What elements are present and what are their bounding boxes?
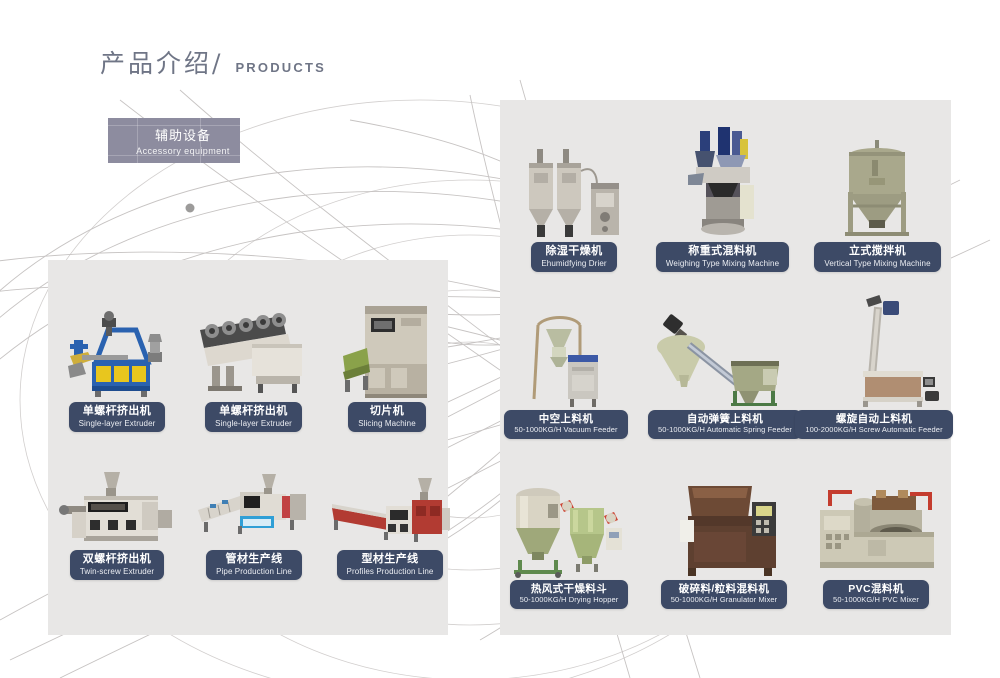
badge-en: 50-1000KG/H Drying Hopper xyxy=(520,596,619,605)
badge-cn: 单螺杆挤出机 xyxy=(79,405,156,418)
badge-cn: 称重式混料机 xyxy=(666,245,779,258)
badge-en: Ehumidfying Drier xyxy=(541,259,606,268)
badge-en: Single-layer Extruder xyxy=(79,419,156,428)
badge-en: 50-1000KG/H Granulator Mixer xyxy=(671,596,778,605)
badge-cn: 管材生产线 xyxy=(216,553,292,566)
badge-cn: 螺旋自动上料机 xyxy=(805,413,942,425)
page-title: 产品介绍/ PRODUCTS xyxy=(100,44,326,80)
roller-conveyor-machine-icon xyxy=(196,300,311,400)
badge-cn: 单螺杆挤出机 xyxy=(215,405,292,418)
badge-en: Weighing Type Mixing Machine xyxy=(666,259,779,268)
product-badge[interactable]: 型材生产线 Profiles Production Line xyxy=(337,550,444,580)
accessory-label-en: Accessory equipment xyxy=(136,146,230,156)
product-item-vacuum-feeder[interactable]: 中空上料机 50-1000KG/H Vacuum Feeder xyxy=(502,303,630,439)
extruder-blue-yellow-machine-icon xyxy=(62,300,172,400)
product-item-pipe-production-line[interactable]: 管材生产线 Pipe Production Line xyxy=(196,462,312,580)
badge-en: Pipe Production Line xyxy=(216,567,292,576)
badge-en: Single-layer Extruder xyxy=(215,419,292,428)
drying-hopper-icon xyxy=(508,470,630,578)
product-badge[interactable]: 破碎料/粒料混料机 50-1000KG/H Granulator Mixer xyxy=(661,580,788,609)
weighing-mixing-machine-icon xyxy=(662,123,783,240)
accessory-equipment-caption: 辅助设备 Accessory equipment xyxy=(108,118,240,163)
badge-en: Profiles Production Line xyxy=(347,567,434,576)
granulator-mixer-icon xyxy=(660,480,788,578)
twin-screw-extruder-machine-icon xyxy=(58,462,176,548)
product-item-slicing-machine[interactable]: 切片机 Slicing Machine xyxy=(337,298,437,432)
badge-cn: 热风式干燥料斗 xyxy=(520,583,619,595)
page-title-cn: 产品介绍/ xyxy=(100,44,223,80)
product-catalog-page: 产品介绍/ PRODUCTS 辅助设备 Accessory equipment xyxy=(0,0,1000,678)
accessory-label-cn: 辅助设备 xyxy=(155,125,211,144)
product-badge[interactable]: 立式搅拌机 Vertical Type Mixing Machine xyxy=(814,242,940,272)
decor-node-dot xyxy=(186,204,195,213)
automatic-spring-feeder-icon xyxy=(655,303,795,408)
pipe-production-line-icon xyxy=(196,462,312,548)
badge-cn: 破碎料/粒料混料机 xyxy=(671,583,778,595)
product-badge[interactable]: PVC混料机 50-1000KG/H PVC Mixer xyxy=(823,580,929,609)
badge-cn: PVC混料机 xyxy=(833,583,919,595)
page-title-en: PRODUCTS xyxy=(235,60,326,75)
product-item-single-layer-extruder-2[interactable]: 单螺杆挤出机 Single-layer Extruder xyxy=(196,300,311,432)
badge-cn: 中空上料机 xyxy=(514,413,617,425)
product-badge[interactable]: 管材生产线 Pipe Production Line xyxy=(206,550,302,580)
product-item-drying-hopper[interactable]: 热风式干燥料斗 50-1000KG/H Drying Hopper xyxy=(508,470,630,609)
product-item-profiles-production-line[interactable]: 型材生产线 Profiles Production Line xyxy=(330,462,450,580)
badge-en: Twin-screw Extruder xyxy=(80,567,154,576)
product-badge[interactable]: 切片机 Slicing Machine xyxy=(348,402,426,432)
product-item-screw-automatic-feeder[interactable]: 螺旋自动上料机 100-2000KG/H Screw Automatic Fee… xyxy=(801,295,947,439)
badge-cn: 型材生产线 xyxy=(347,553,434,566)
product-item-vertical-mixing-machine[interactable]: 立式搅拌机 Vertical Type Mixing Machine xyxy=(815,134,940,272)
product-badge[interactable]: 单螺杆挤出机 Single-layer Extruder xyxy=(205,402,302,432)
product-badge[interactable]: 自动弹簧上料机 50-1000KG/H Automatic Spring Fee… xyxy=(648,410,802,439)
badge-en: 50-1000KG/H Vacuum Feeder xyxy=(514,426,617,435)
product-badge[interactable]: 单螺杆挤出机 Single-layer Extruder xyxy=(69,402,166,432)
badge-cn: 除湿干燥机 xyxy=(541,245,606,258)
product-item-weighing-mixing-machine[interactable]: 称重式混料机 Weighing Type Mixing Machine xyxy=(662,123,783,272)
product-item-automatic-spring-feeder[interactable]: 自动弹簧上料机 50-1000KG/H Automatic Spring Fee… xyxy=(655,303,795,439)
vacuum-feeder-icon xyxy=(502,303,630,408)
product-item-pvc-mixer[interactable]: PVC混料机 50-1000KG/H PVC Mixer xyxy=(810,482,942,609)
product-badge[interactable]: 除湿干燥机 Ehumidfying Drier xyxy=(531,242,616,272)
product-item-granulator-mixer[interactable]: 破碎料/粒料混料机 50-1000KG/H Granulator Mixer xyxy=(660,480,788,609)
product-badge[interactable]: 称重式混料机 Weighing Type Mixing Machine xyxy=(656,242,789,272)
product-badge[interactable]: 螺旋自动上料机 100-2000KG/H Screw Automatic Fee… xyxy=(795,410,952,439)
badge-cn: 切片机 xyxy=(358,405,416,418)
badge-en: 50-1000KG/H Automatic Spring Feeder xyxy=(658,426,792,435)
vertical-mixing-machine-icon xyxy=(815,134,940,240)
product-badge[interactable]: 双螺杆挤出机 Twin-screw Extruder xyxy=(70,550,164,580)
pvc-mixer-icon xyxy=(810,482,942,578)
product-item-dehumidifying-drier[interactable]: 除湿干燥机 Ehumidfying Drier xyxy=(521,135,627,272)
badge-en: 100-2000KG/H Screw Automatic Feeder xyxy=(805,426,942,435)
product-item-single-layer-extruder-1[interactable]: 单螺杆挤出机 Single-layer Extruder xyxy=(62,300,172,432)
dehumidifying-drier-icon xyxy=(521,135,627,240)
badge-cn: 双螺杆挤出机 xyxy=(80,553,154,566)
badge-en: 50-1000KG/H PVC Mixer xyxy=(833,596,919,605)
badge-cn: 立式搅拌机 xyxy=(824,245,930,258)
profiles-production-line-icon xyxy=(330,462,450,548)
product-item-twin-screw-extruder[interactable]: 双螺杆挤出机 Twin-screw Extruder xyxy=(58,462,176,580)
badge-cn: 自动弹簧上料机 xyxy=(658,413,792,425)
screw-automatic-feeder-icon xyxy=(801,295,947,408)
badge-en: Slicing Machine xyxy=(358,419,416,428)
badge-en: Vertical Type Mixing Machine xyxy=(824,259,930,268)
product-badge[interactable]: 热风式干燥料斗 50-1000KG/H Drying Hopper xyxy=(510,580,629,609)
product-badge[interactable]: 中空上料机 50-1000KG/H Vacuum Feeder xyxy=(504,410,627,439)
slicing-machine-icon xyxy=(337,298,437,400)
